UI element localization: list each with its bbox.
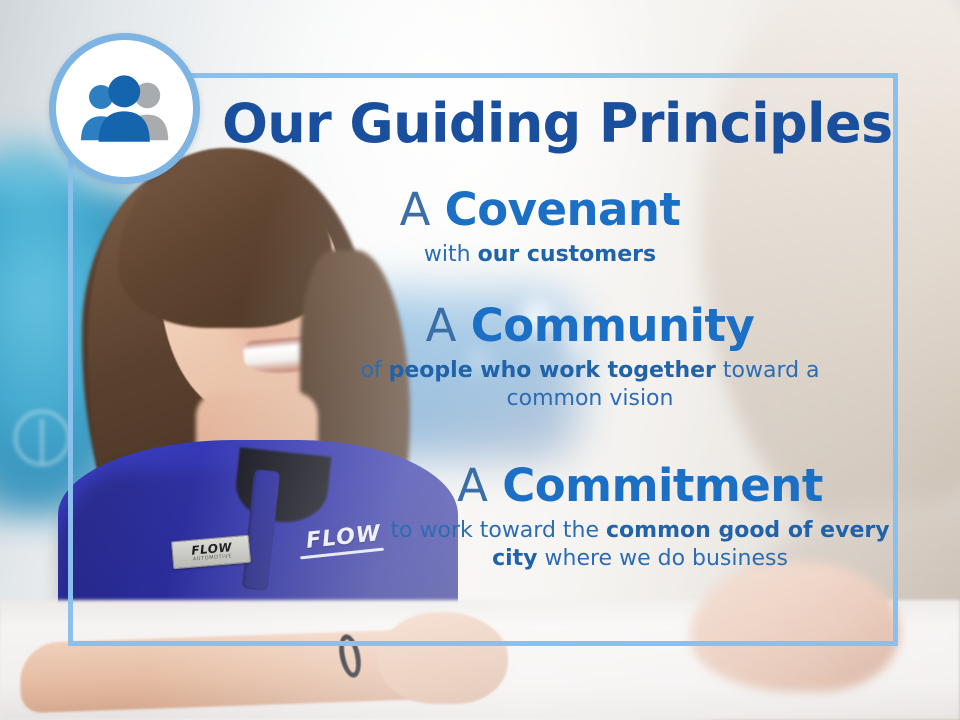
text-content: Our Guiding Principles A Covenant with o… bbox=[0, 0, 960, 720]
principle-keyword: Commitment bbox=[502, 459, 823, 512]
principle-subtext: to work toward the common good of every … bbox=[380, 517, 900, 574]
principle-article: A bbox=[426, 299, 457, 352]
guiding-principles-graphic: FLOW FLOW AUTOMOTIVE Our Guidi bbox=[0, 0, 960, 720]
principle-heading: A Commitment bbox=[380, 462, 900, 511]
principle-subtext: with our customers bbox=[290, 241, 790, 270]
principle-keyword: Covenant bbox=[445, 183, 681, 236]
principle-block-covenant: A Covenant with our customers bbox=[290, 186, 790, 269]
principle-heading: A Community bbox=[330, 302, 850, 351]
principle-article: A bbox=[457, 459, 488, 512]
principle-subtext: of people who work together toward a com… bbox=[330, 357, 850, 414]
page-title: Our Guiding Principles bbox=[222, 96, 893, 151]
principle-block-commitment: A Commitment to work toward the common g… bbox=[380, 462, 900, 574]
principle-heading: A Covenant bbox=[290, 186, 790, 235]
principle-block-community: A Community of people who work together … bbox=[330, 302, 850, 414]
principle-article: A bbox=[400, 183, 431, 236]
principle-keyword: Community bbox=[471, 299, 755, 352]
